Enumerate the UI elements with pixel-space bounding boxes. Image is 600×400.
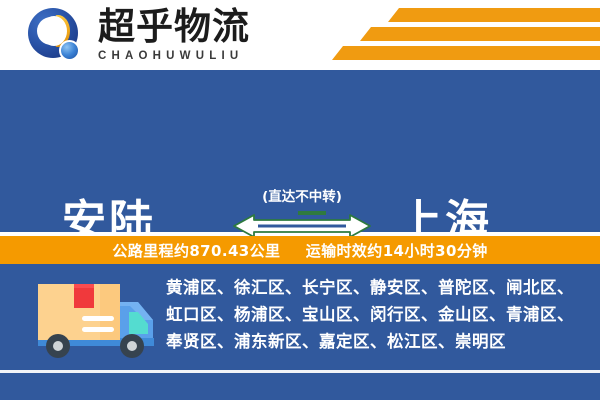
logo-sphere-shape: [59, 40, 80, 61]
brand-name-cn: 超乎物流: [98, 6, 278, 48]
route-info-text: 公路里程约870.43公里 运输时效约14小时30分钟: [112, 240, 487, 261]
district-line: 黄浦区、徐汇区、长宁区、静安区、普陀区、闸北区、: [166, 274, 594, 301]
stripe-1: [388, 8, 600, 22]
duration-text: 运输时效约14小时30分钟: [306, 242, 488, 260]
route-info-bar: 公路里程约870.43公里 运输时效约14小时30分钟: [0, 236, 600, 264]
district-line: 奉贤区、浦东新区、嘉定区、松江区、崇明区: [166, 328, 594, 355]
district-line: 虹口区、杨浦区、宝山区、闵行区、金山区、青浦区、: [166, 301, 594, 328]
distance-text: 公路里程约870.43公里: [112, 242, 280, 260]
coverage-panel: 黄浦区、徐汇区、长宁区、静安区、普陀区、闸北区、 虹口区、杨浦区、宝山区、闵行区…: [0, 264, 600, 400]
logistics-banner: 超乎物流 CHAOHUWULIU 安陆 (直达不中转): [0, 0, 600, 400]
stripe-3: [332, 46, 600, 60]
double-arrow-icon: [232, 209, 372, 239]
banner-header: 超乎物流 CHAOHUWULIU: [0, 0, 600, 70]
brand-name-en: CHAOHUWULIU: [98, 50, 278, 62]
delivery-truck-icon: [22, 276, 162, 364]
chaohu-circle-logo-icon: [28, 8, 84, 64]
brand-block: 超乎物流 CHAOHUWULIU: [98, 6, 278, 62]
direct-service-note: (直达不中转): [232, 188, 372, 206]
route-panel: 安陆 (直达不中转) 【往返运输】 上海: [0, 70, 600, 232]
district-list: 黄浦区、徐汇区、长宁区、静安区、普陀区、闸北区、 虹口区、杨浦区、宝山区、闵行区…: [166, 274, 594, 355]
stripe-2: [360, 27, 600, 41]
panel-divider: [0, 370, 600, 373]
decorative-stripes: [330, 6, 600, 64]
